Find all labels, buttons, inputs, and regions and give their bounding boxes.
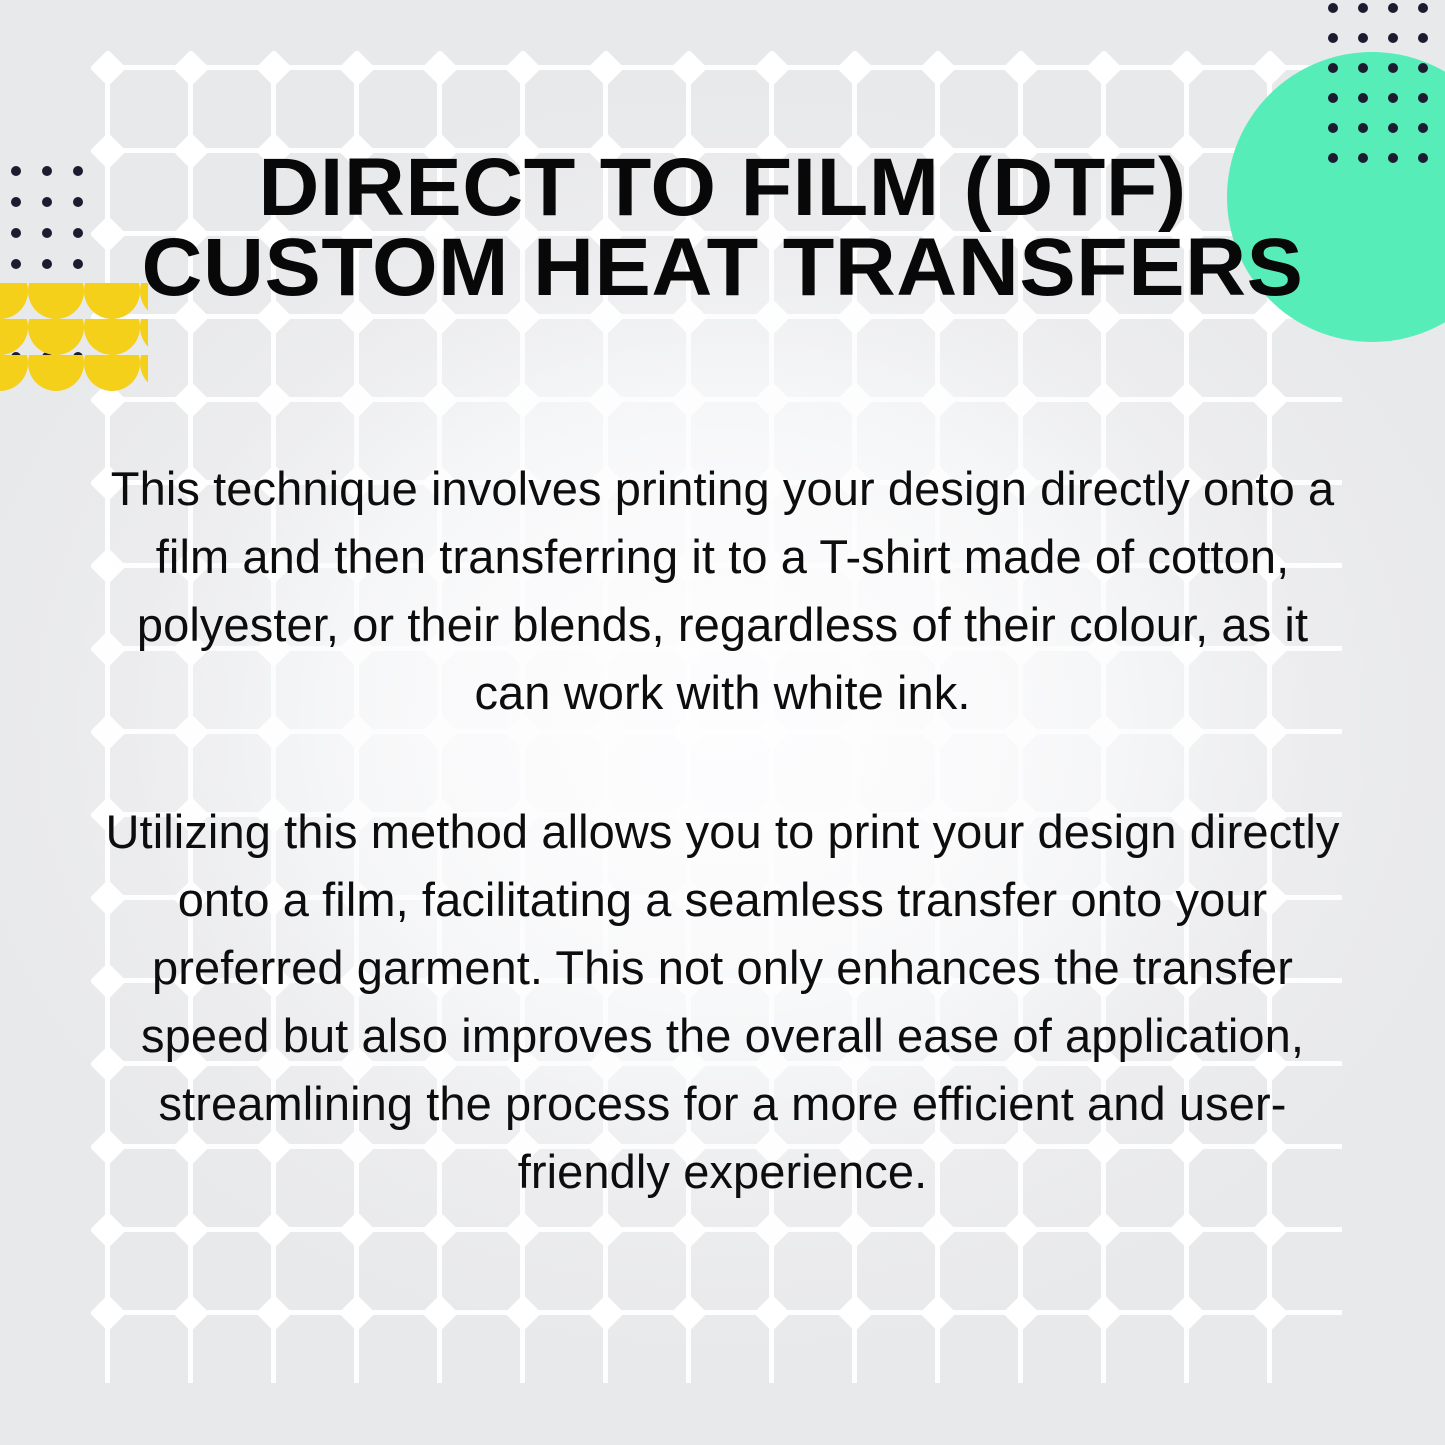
body-paragraph-2: Utilizing this method allows you to prin… [96,798,1349,1207]
body-paragraph-1: This technique involves printing your de… [96,455,1349,728]
title-line-1: DIRECT TO FILM (DTF) [0,148,1445,228]
poster-canvas: DIRECT TO FILM (DTF) CUSTOM HEAT TRANSFE… [0,0,1445,1445]
title-line-2: CUSTOM HEAT TRANSFERS [0,228,1445,308]
content-area: DIRECT TO FILM (DTF) CUSTOM HEAT TRANSFE… [0,0,1445,1445]
page-title: DIRECT TO FILM (DTF) CUSTOM HEAT TRANSFE… [0,148,1445,309]
body-text-block: This technique involves printing your de… [96,455,1349,1206]
